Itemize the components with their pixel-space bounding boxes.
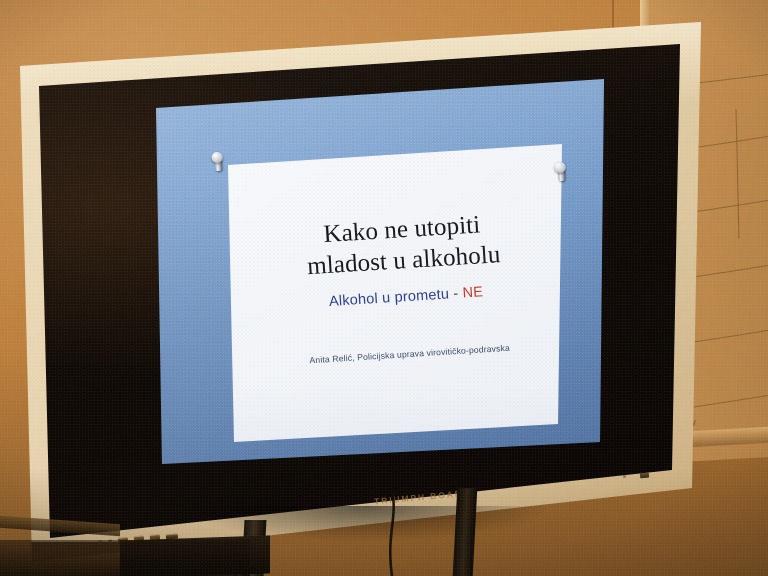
floor-shadow (0, 540, 250, 576)
photo-scene: Kako ne utopiti mladost u alkoholu Alkoh… (0, 0, 768, 576)
cable (0, 0, 768, 576)
